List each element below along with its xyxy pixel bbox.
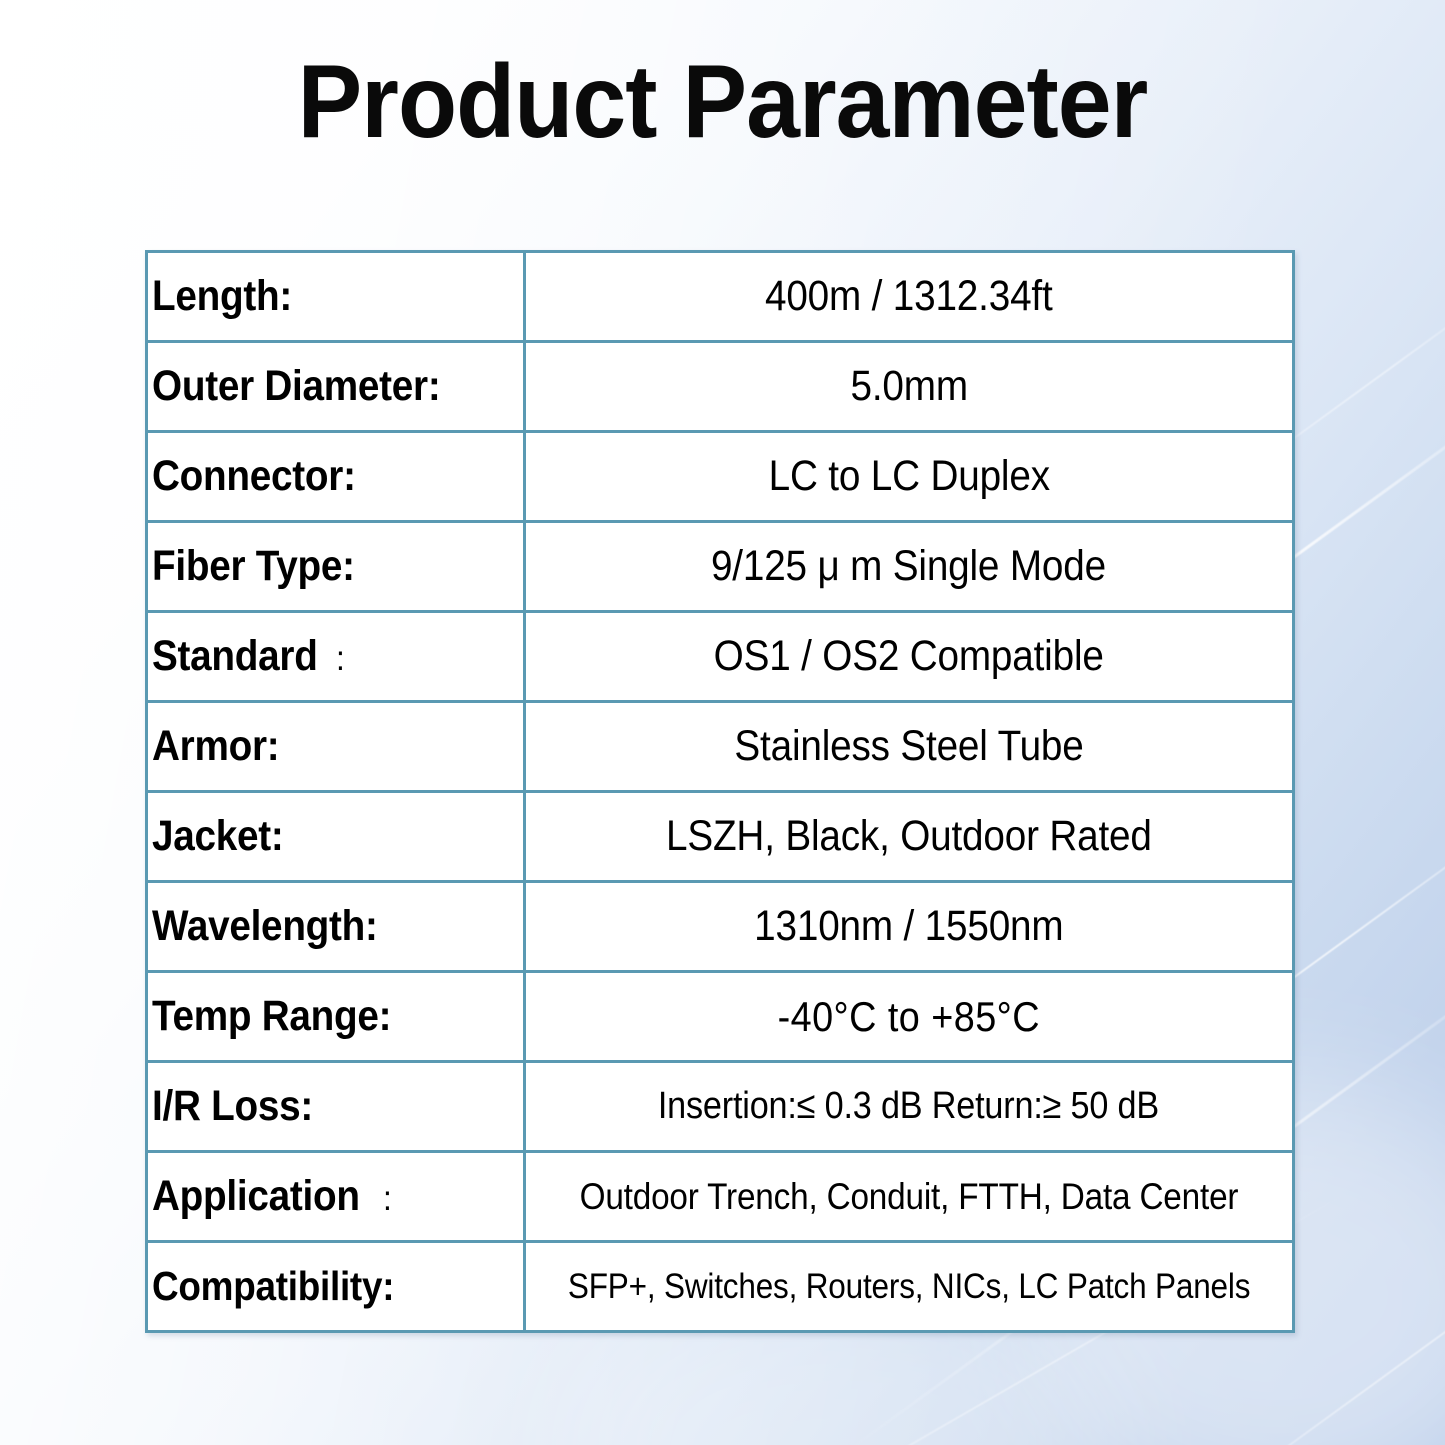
parameter-value: -40°C to +85°C: [778, 993, 1040, 1041]
parameter-value: Outdoor Trench, Conduit, FTTH, Data Cent…: [580, 1176, 1239, 1218]
table-row: Jacket:LSZH, Black, Outdoor Rated: [147, 792, 1294, 882]
table-row: Armor:Stainless Steel Tube: [147, 702, 1294, 792]
parameter-value: 400m / 1312.34ft: [765, 272, 1053, 321]
parameter-value-cell-outer_dia: 5.0mm: [524, 342, 1293, 432]
parameter-label-cell-armor: Armor:: [147, 702, 525, 792]
parameter-label-cell-compat: Compatibility:: [147, 1242, 525, 1332]
table-row: Standard:OS1 / OS2 Compatible: [147, 612, 1294, 702]
parameter-label: Outer Diameter:: [152, 362, 440, 411]
parameter-value: 5.0mm: [850, 362, 967, 411]
parameter-label: Application: [152, 1172, 360, 1221]
parameter-label: Jacket:: [152, 812, 284, 861]
parameter-label: Compatibility:: [152, 1263, 394, 1310]
parameter-value: OS1 / OS2 Compatible: [714, 632, 1104, 681]
table-row: Length:400m / 1312.34ft: [147, 252, 1294, 342]
page-title: Product Parameter: [51, 48, 1395, 157]
parameter-label-cell-temp: Temp Range:: [147, 972, 525, 1062]
parameter-value: Stainless Steel Tube: [734, 722, 1083, 771]
parameter-label: Fiber Type:: [152, 542, 355, 591]
parameter-label-cell-outer_dia: Outer Diameter:: [147, 342, 525, 432]
parameter-label-cell-irloss: I/R Loss:: [147, 1062, 525, 1152]
product-parameter-page: Product Parameter Length:400m / 1312.34f…: [0, 0, 1445, 1445]
parameter-label-cell-fiber_type: Fiber Type:: [147, 522, 525, 612]
parameter-value-cell-jacket: LSZH, Black, Outdoor Rated: [524, 792, 1293, 882]
parameter-value-cell-irloss: Insertion:≤ 0.3 dB Return:≥ 50 dB: [524, 1062, 1293, 1152]
parameter-value-cell-temp: -40°C to +85°C: [524, 972, 1293, 1062]
parameter-label-cell-connector: Connector:: [147, 432, 525, 522]
parameter-value-cell-standard: OS1 / OS2 Compatible: [524, 612, 1293, 702]
parameter-value: 9/125 μ m Single Mode: [711, 542, 1106, 591]
parameter-label-cell-standard: Standard:: [147, 612, 525, 702]
parameter-value: SFP+, Switches, Routers, NICs, LC Patch …: [568, 1267, 1250, 1307]
table-row: Temp Range:-40°C to +85°C: [147, 972, 1294, 1062]
parameter-value-cell-connector: LC to LC Duplex: [524, 432, 1293, 522]
parameter-label: Length:: [152, 272, 292, 321]
parameter-value-cell-compat: SFP+, Switches, Routers, NICs, LC Patch …: [524, 1242, 1293, 1332]
parameter-value-cell-wavelength: 1310nm / 1550nm: [524, 882, 1293, 972]
parameter-label-colon: :: [383, 1179, 392, 1219]
parameter-label: Standard: [152, 632, 318, 681]
parameter-value-cell-app: Outdoor Trench, Conduit, FTTH, Data Cent…: [524, 1152, 1293, 1242]
parameter-value: Insertion:≤ 0.3 dB Return:≥ 50 dB: [658, 1085, 1159, 1128]
table-row: I/R Loss:Insertion:≤ 0.3 dB Return:≥ 50 …: [147, 1062, 1294, 1152]
table-row: Compatibility:SFP+, Switches, Routers, N…: [147, 1242, 1294, 1332]
parameter-label: Connector:: [152, 452, 356, 501]
table-row: Application:Outdoor Trench, Conduit, FTT…: [147, 1152, 1294, 1242]
parameter-value: LSZH, Black, Outdoor Rated: [666, 812, 1152, 861]
parameter-label-colon: :: [336, 639, 345, 679]
parameter-label: Wavelength:: [152, 902, 378, 951]
parameter-label: I/R Loss:: [152, 1082, 313, 1131]
parameter-value-cell-fiber_type: 9/125 μ m Single Mode: [524, 522, 1293, 612]
parameter-value-cell-armor: Stainless Steel Tube: [524, 702, 1293, 792]
table-row: Connector:LC to LC Duplex: [147, 432, 1294, 522]
parameter-value-cell-length: 400m / 1312.34ft: [524, 252, 1293, 342]
table-row: Fiber Type:9/125 μ m Single Mode: [147, 522, 1294, 612]
table-row: Wavelength:1310nm / 1550nm: [147, 882, 1294, 972]
parameter-value: 1310nm / 1550nm: [754, 902, 1063, 951]
product-parameter-table: Length:400m / 1312.34ftOuter Diameter:5.…: [145, 250, 1295, 1333]
parameter-value: LC to LC Duplex: [768, 452, 1049, 501]
parameter-label-cell-wavelength: Wavelength:: [147, 882, 525, 972]
parameter-label-cell-jacket: Jacket:: [147, 792, 525, 882]
parameter-label: Temp Range:: [152, 992, 391, 1041]
parameter-label-cell-app: Application:: [147, 1152, 525, 1242]
product-parameter-table-body: Length:400m / 1312.34ftOuter Diameter:5.…: [147, 252, 1294, 1332]
parameter-label-cell-length: Length:: [147, 252, 525, 342]
parameter-label: Armor:: [152, 722, 279, 771]
table-row: Outer Diameter:5.0mm: [147, 342, 1294, 432]
